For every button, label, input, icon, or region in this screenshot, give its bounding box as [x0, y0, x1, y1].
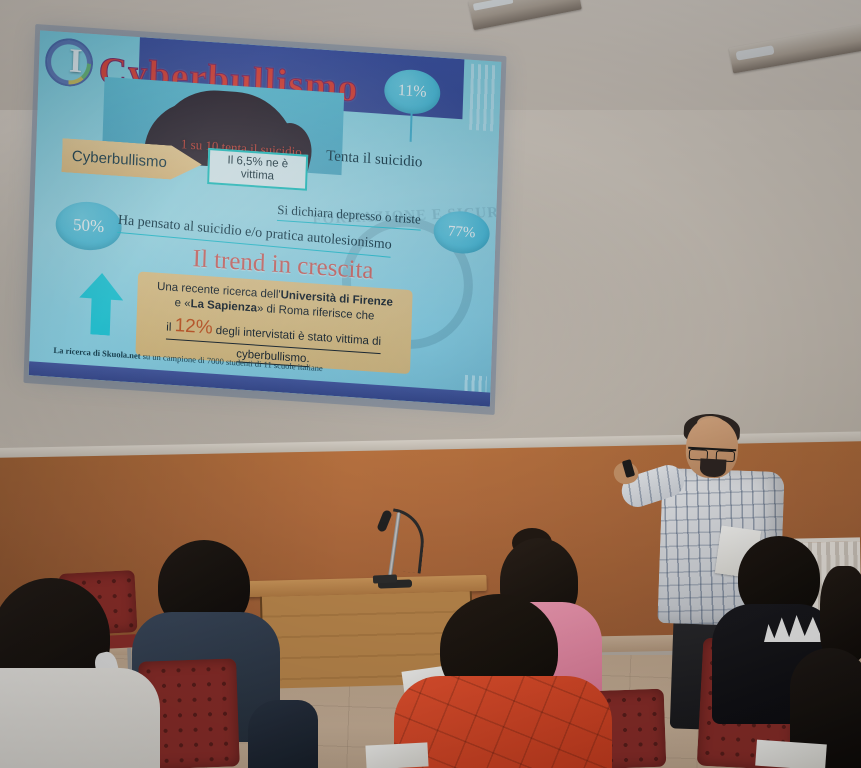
- presentation-remote: [373, 574, 397, 583]
- up-arrow-icon: [78, 272, 124, 337]
- eyeglasses-icon: [688, 447, 736, 459]
- presentation-room-photo: 4 FORMAZIONE E SICUREZZA I Cyberbullismo…: [0, 0, 861, 768]
- speaker-beard: [700, 458, 727, 477]
- victim-percentage-box: Il 6,5% ne è vittima: [207, 148, 308, 191]
- logo-letter: I: [68, 42, 82, 81]
- paper-sheet-right: [755, 740, 827, 768]
- stat-depresso: Si dichiara depresso o triste: [277, 202, 421, 231]
- arrow-tag-label: Cyberbullismo: [62, 147, 167, 171]
- bubble-50: 50%: [55, 200, 122, 252]
- audience-front-left-body: [0, 668, 160, 768]
- paper-sheet-bottom: [365, 742, 428, 768]
- audience-partial-shoulder: [248, 700, 318, 768]
- bubble-77: 77%: [433, 210, 490, 256]
- bubble-11-connector: [410, 112, 413, 142]
- slide-content: 4 FORMAZIONE E SICUREZZA I Cyberbullismo…: [29, 30, 502, 406]
- projection-screen: 4 FORMAZIONE E SICUREZZA I Cyberbullismo…: [29, 30, 502, 406]
- slide-stripes-decoration: [469, 64, 497, 132]
- victim-box-text: Il 6,5% ne è vittima: [227, 155, 288, 184]
